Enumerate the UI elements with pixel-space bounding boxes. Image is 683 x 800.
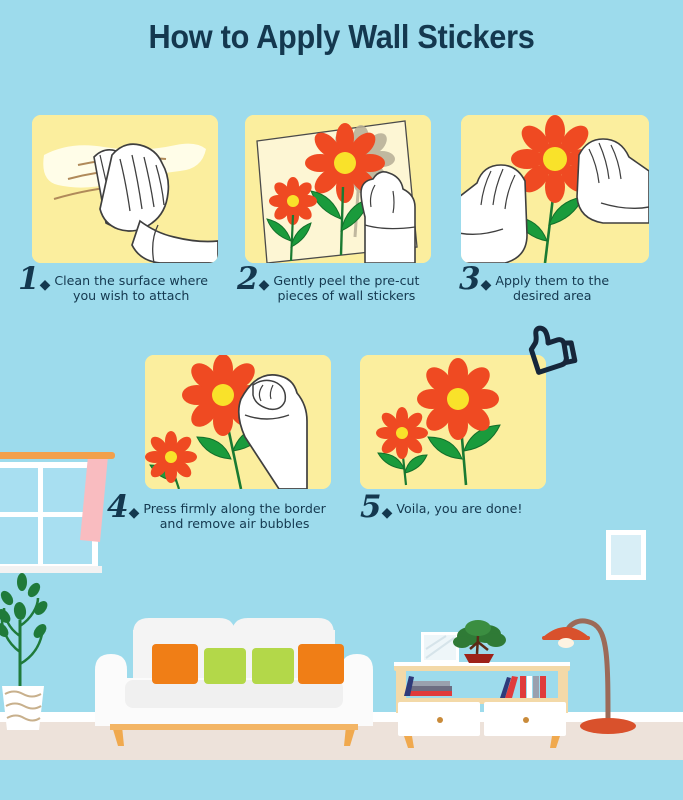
step-1-number: 1◆ bbox=[18, 265, 50, 299]
step-2-card bbox=[245, 115, 431, 263]
picture-frame-shelf bbox=[421, 632, 459, 663]
hand-wiping-wall-illustration bbox=[32, 115, 218, 263]
step-5: 5◆ Voila, you are done! bbox=[360, 355, 550, 555]
flower-large bbox=[417, 358, 499, 440]
flower-small bbox=[145, 431, 197, 483]
step-3-number: 3◆ bbox=[459, 265, 491, 299]
step-4: 4◆ Press firmly along the border and rem… bbox=[145, 355, 335, 555]
flower-small bbox=[376, 407, 428, 459]
sofa bbox=[95, 618, 373, 746]
step-3-card bbox=[461, 115, 649, 263]
step-2-number: 2◆ bbox=[237, 265, 269, 299]
step-3-text: Apply them to the desired area bbox=[495, 265, 609, 303]
step-1-caption: 1◆ Clean the surface where you wish to a… bbox=[18, 265, 230, 303]
hand-pressing-sticker-illustration bbox=[145, 355, 331, 489]
step-3: 3◆ Apply them to the desired area bbox=[461, 115, 651, 300]
step-4-card bbox=[145, 355, 331, 489]
page-title: How to Apply Wall Stickers bbox=[24, 18, 659, 56]
step-1: 1◆ Clean the surface where you wish to a… bbox=[32, 115, 220, 300]
two-hands-placing-flower-illustration bbox=[461, 115, 649, 263]
picture-frame-wall bbox=[606, 530, 646, 580]
step-4-caption: 4◆ Press firmly along the border and rem… bbox=[107, 493, 353, 531]
step-4-text: Press firmly along the border and remove… bbox=[143, 493, 325, 531]
step-5-caption: 5◆ Voila, you are done! bbox=[360, 493, 560, 527]
step-2-caption: 2◆ Gently peel the pre-cut pieces of wal… bbox=[237, 265, 443, 303]
step-5-text: Voila, you are done! bbox=[396, 493, 522, 516]
step-3-caption: 3◆ Apply them to the desired area bbox=[459, 265, 651, 303]
step-4-number: 4◆ bbox=[107, 493, 139, 527]
thumbs-up-icon bbox=[518, 318, 580, 380]
step-1-card bbox=[32, 115, 218, 263]
step-2-text: Gently peel the pre-cut pieces of wall s… bbox=[273, 265, 419, 303]
infographic-page: How to Apply Wall Stickers bbox=[0, 0, 683, 800]
step-2: 2◆ Gently peel the pre-cut pieces of wal… bbox=[245, 115, 433, 300]
curtain-rod bbox=[0, 452, 115, 459]
hand-peeling-sticker-sheet-illustration bbox=[245, 115, 431, 263]
room-scene bbox=[0, 430, 683, 800]
step-5-number: 5◆ bbox=[360, 493, 392, 527]
step-1-text: Clean the surface where you wish to atta… bbox=[54, 265, 208, 303]
